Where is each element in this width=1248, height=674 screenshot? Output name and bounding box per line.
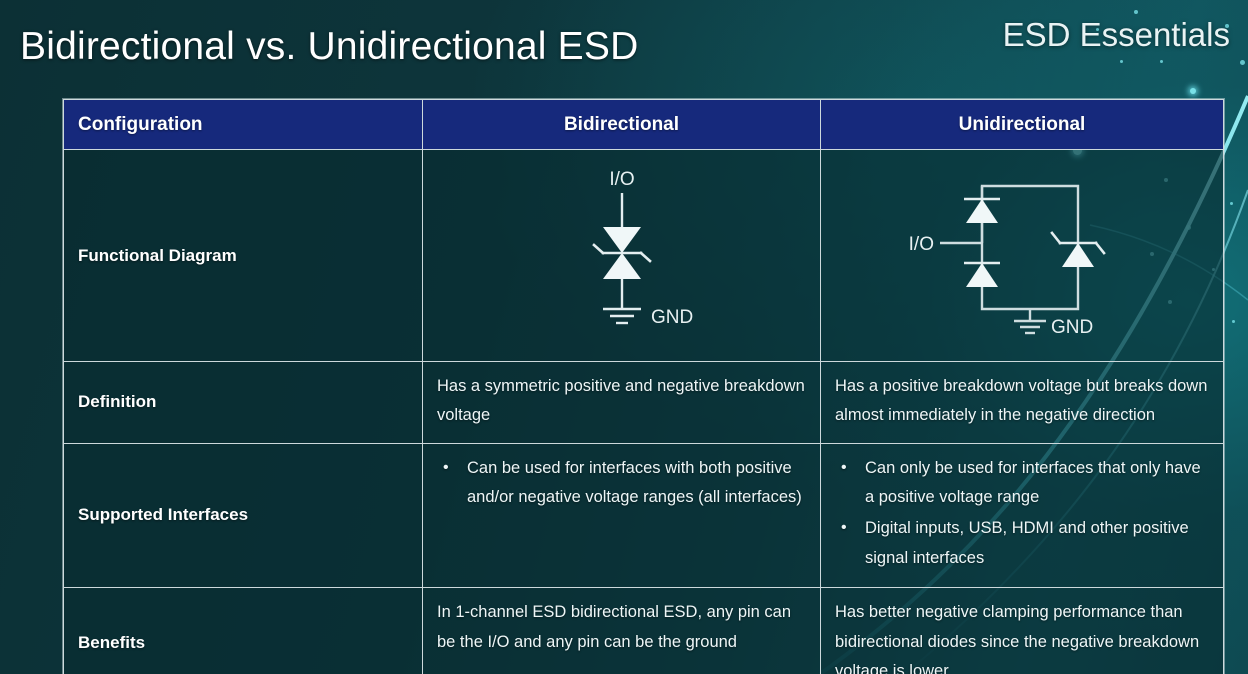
esd-comparison-table: Configuration Bidirectional Unidirection… xyxy=(63,99,1224,674)
column-header-bidirectional: Bidirectional xyxy=(423,100,821,150)
column-header-unidirectional: Unidirectional xyxy=(821,100,1224,150)
star-particle xyxy=(1240,60,1245,65)
star-particle xyxy=(1190,88,1196,94)
io-label-bidirectional: I/O xyxy=(609,169,634,190)
unidirectional-esd-diode-diagram: I/O GND xyxy=(892,161,1152,351)
lower-diode-triangle xyxy=(603,253,641,279)
cell-benefits-unidirectional: Has better negative clamping performance… xyxy=(821,588,1224,674)
table-row: Functional Diagram xyxy=(64,150,1224,362)
star-particle xyxy=(1120,60,1123,63)
star-particle xyxy=(1232,320,1235,323)
list-item: Can only be used for interfaces that onl… xyxy=(835,454,1209,513)
list-item: Digital inputs, USB, HDMI and other posi… xyxy=(835,514,1209,573)
slide-canvas: Bidirectional vs. Unidirectional ESD ESD… xyxy=(0,0,1248,674)
bullet-list: Can only be used for interfaces that onl… xyxy=(835,454,1209,573)
brand-tag: ESD Essentials xyxy=(1003,16,1230,54)
upper-diode-triangle xyxy=(603,227,641,253)
lower-steering-diode xyxy=(964,263,1000,287)
row-label-functional-diagram: Functional Diagram xyxy=(64,150,423,362)
table-row: Supported Interfaces Can be used for int… xyxy=(64,443,1224,587)
table-header: Configuration Bidirectional Unidirection… xyxy=(64,100,1224,150)
cell-bidirectional-diagram: I/O GND xyxy=(423,150,821,362)
star-particle xyxy=(1160,60,1163,63)
cell-definition-unidirectional: Has a positive breakdown voltage but bre… xyxy=(821,362,1224,444)
upper-steering-diode xyxy=(964,199,1000,223)
star-particle xyxy=(1134,10,1138,14)
cell-interfaces-unidirectional: Can only be used for interfaces that onl… xyxy=(821,443,1224,587)
table-body: Functional Diagram xyxy=(64,150,1224,674)
cell-interfaces-bidirectional: Can be used for interfaces with both pos… xyxy=(423,443,821,587)
row-label-definition: Definition xyxy=(64,362,423,444)
list-item: Can be used for interfaces with both pos… xyxy=(437,454,806,513)
table-row: Definition Has a symmetric positive and … xyxy=(64,362,1224,444)
circuit-loop xyxy=(940,186,1078,333)
cell-definition-bidirectional: Has a symmetric positive and negative br… xyxy=(423,362,821,444)
row-label-benefits: Benefits xyxy=(64,588,423,674)
cell-unidirectional-diagram: I/O GND xyxy=(821,150,1224,362)
cell-benefits-bidirectional: In 1-channel ESD bidirectional ESD, any … xyxy=(423,588,821,674)
table-row: Benefits In 1-channel ESD bidirectional … xyxy=(64,588,1224,674)
page-title: Bidirectional vs. Unidirectional ESD xyxy=(20,25,638,69)
column-header-configuration: Configuration xyxy=(64,100,423,150)
star-particle xyxy=(1230,202,1233,205)
table-header-row: Configuration Bidirectional Unidirection… xyxy=(64,100,1224,150)
io-label-unidirectional: I/O xyxy=(909,234,934,255)
bidirectional-tvs-diode-diagram: I/O GND xyxy=(517,161,727,351)
gnd-label-bidirectional: GND xyxy=(651,307,693,328)
bullet-list: Can be used for interfaces with both pos… xyxy=(437,454,806,513)
gnd-label-unidirectional: GND xyxy=(1051,317,1093,338)
row-label-supported-interfaces: Supported Interfaces xyxy=(64,443,423,587)
